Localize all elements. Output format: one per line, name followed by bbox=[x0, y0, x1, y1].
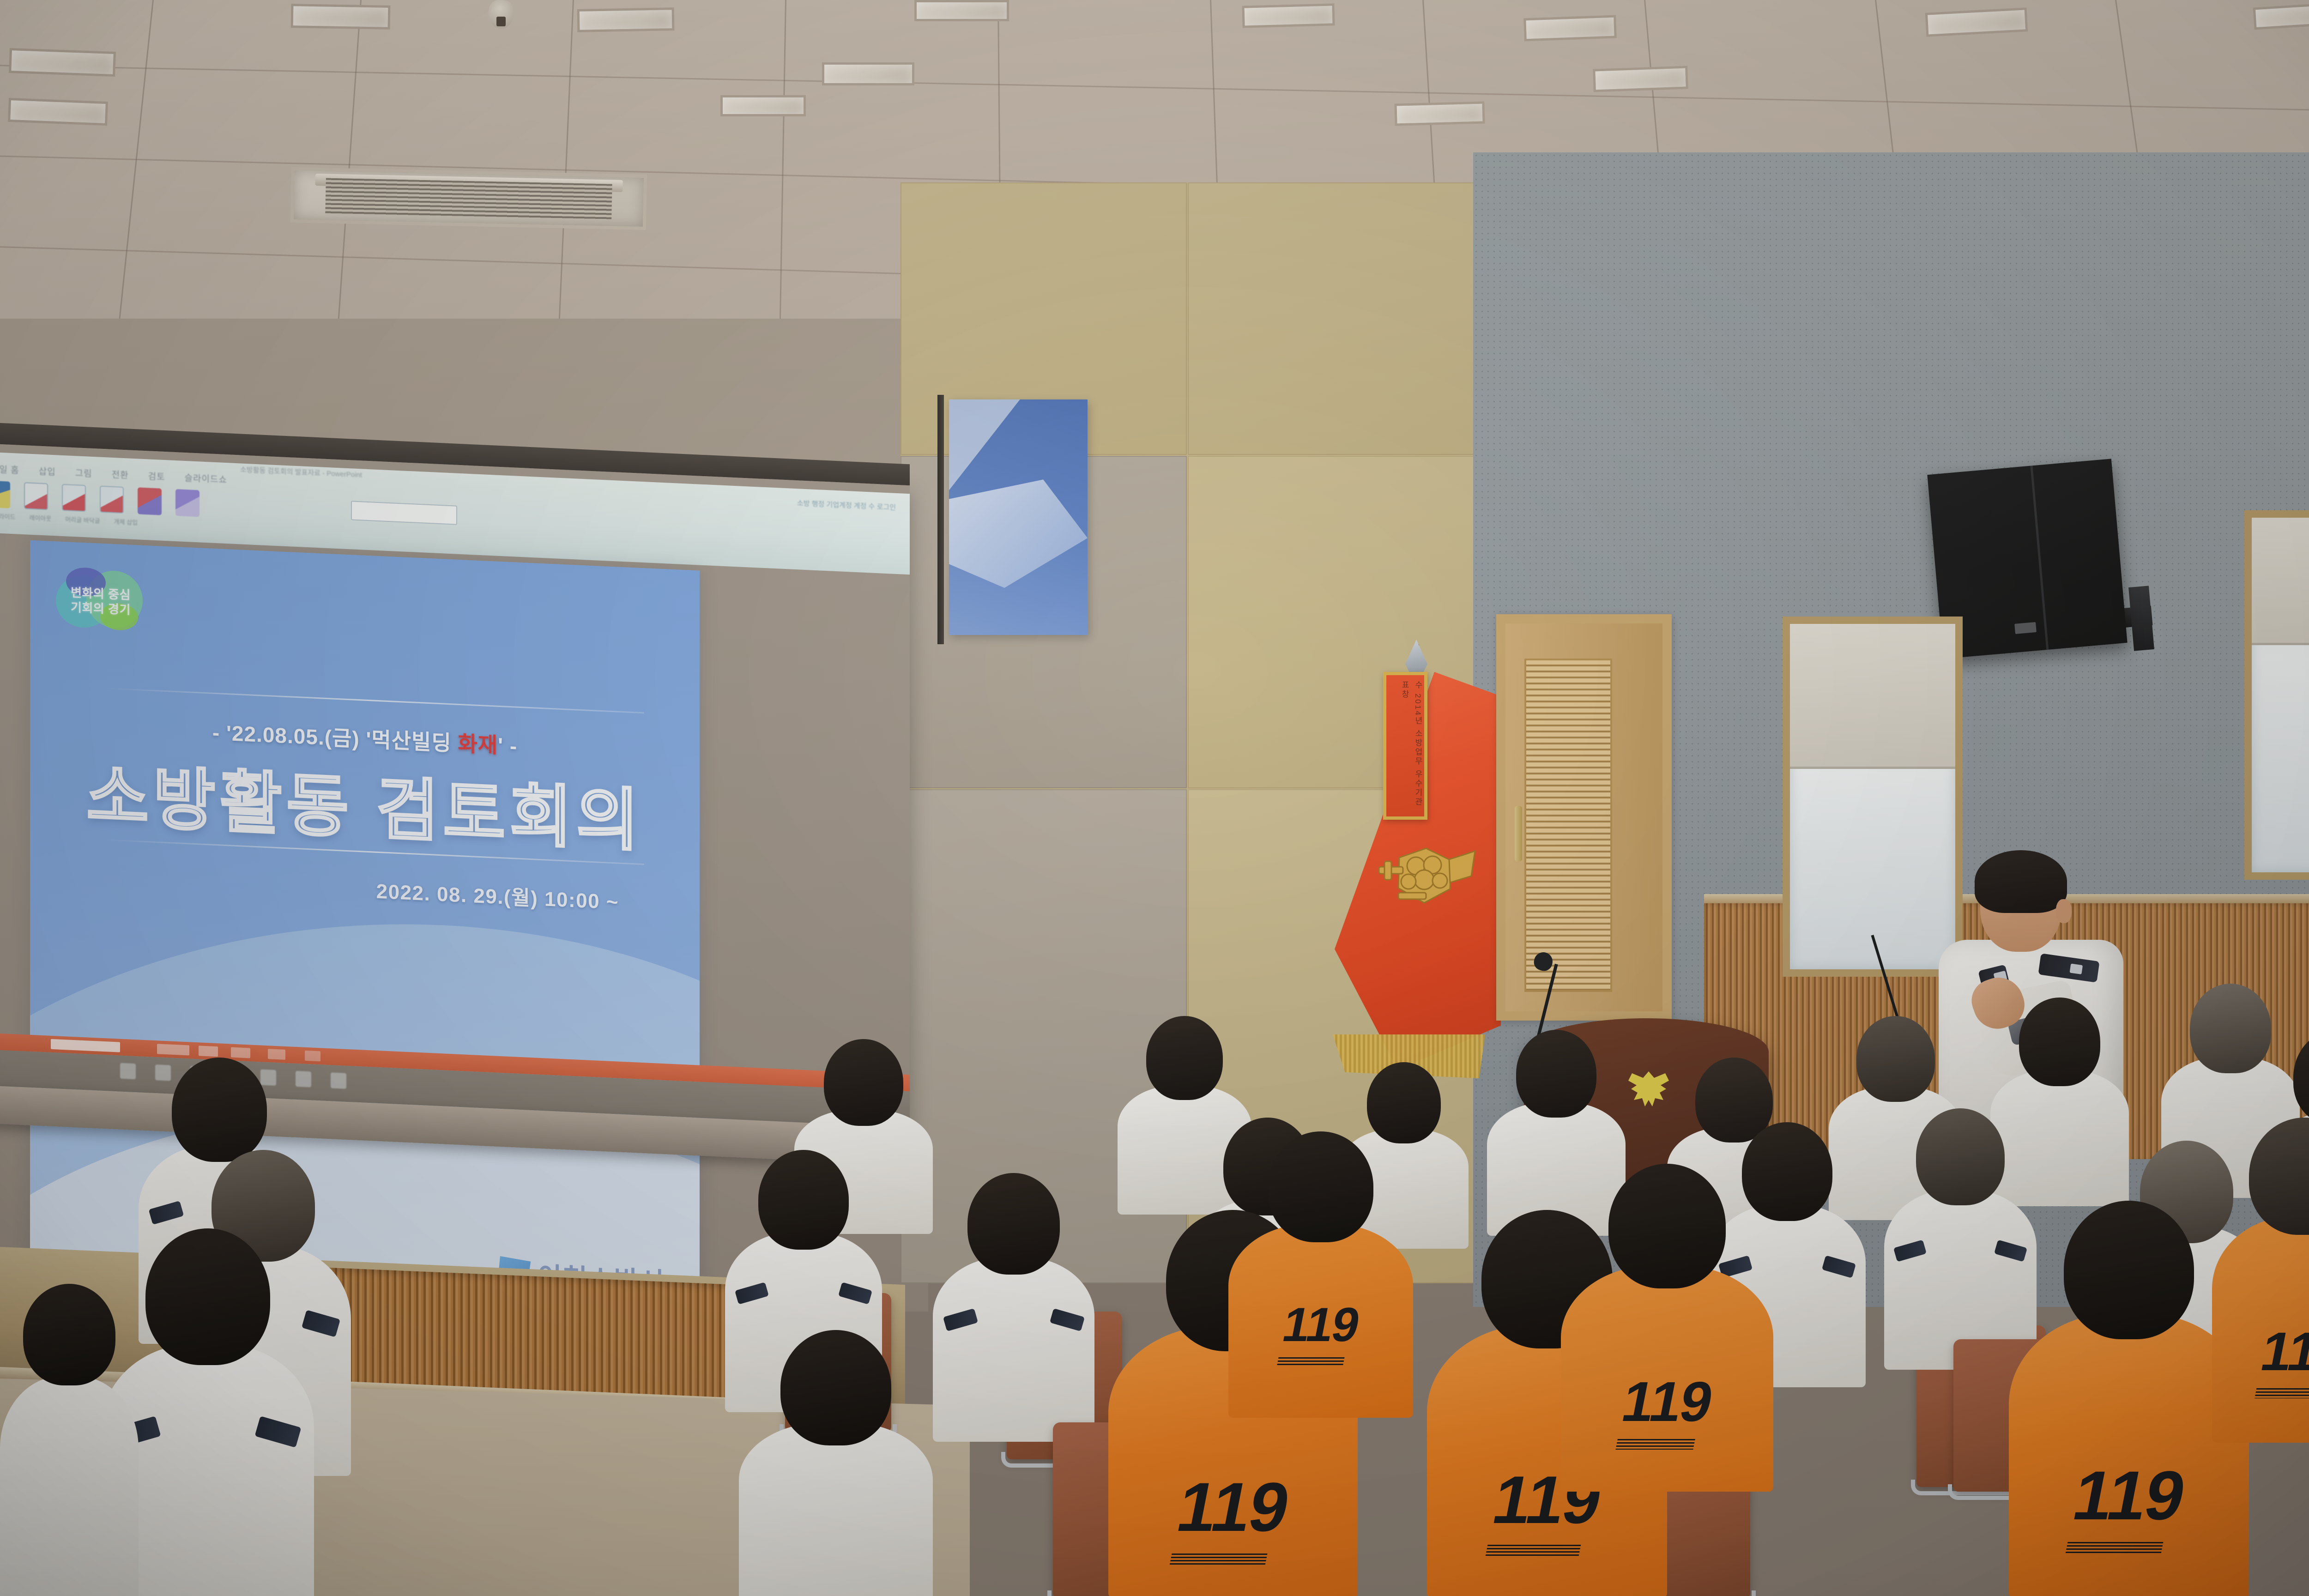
ribbon-icon-group[interactable] bbox=[0, 480, 199, 517]
rank-epaulette-left bbox=[943, 1308, 978, 1331]
head bbox=[2019, 997, 2100, 1086]
door-handle-icon[interactable] bbox=[1515, 806, 1522, 861]
banner-rod bbox=[937, 395, 944, 644]
head bbox=[1516, 1030, 1596, 1118]
insert-picture-icon[interactable] bbox=[62, 484, 86, 512]
menu-slideshow[interactable]: 슬라이드쇼 bbox=[185, 471, 227, 485]
stage-wood-slats bbox=[296, 1266, 785, 1402]
head bbox=[824, 1039, 903, 1126]
head bbox=[2293, 1030, 2309, 1125]
audience-member bbox=[739, 1330, 933, 1596]
uniform-shirt bbox=[933, 1257, 1094, 1442]
audience-member-119: 119 bbox=[2212, 1118, 2309, 1441]
rank-epaulette-right bbox=[1822, 1255, 1856, 1278]
door-louver-slats bbox=[1524, 659, 1612, 992]
presenter-hair bbox=[1975, 850, 2067, 913]
audience-member-119: 119 bbox=[1228, 1131, 1413, 1418]
icon-label: 머리글 바닥글 bbox=[65, 514, 100, 525]
ceiling-light-panel bbox=[291, 4, 391, 30]
rank-epaulette-right bbox=[254, 1416, 301, 1447]
auditorium-photo: 소방활동 검토회의 발표자료 - PowerPoint 소방 행정 기업계정 계… bbox=[0, 0, 2309, 1596]
account-label: 소방 행정 기업계정 계정 수 로그인 bbox=[797, 498, 896, 512]
window-blind[interactable] bbox=[1790, 624, 1955, 769]
screen-surface: 소방활동 검토회의 발표자료 - PowerPoint 소방 행정 기업계정 계… bbox=[0, 443, 910, 1127]
head bbox=[23, 1284, 115, 1385]
start-icon[interactable] bbox=[120, 1063, 136, 1080]
slide-rule-top bbox=[99, 688, 644, 714]
menu-file-home[interactable]: 파일 홈 bbox=[0, 462, 19, 476]
menu-insert[interactable]: 삽입 bbox=[39, 465, 56, 478]
window-blind[interactable] bbox=[2252, 518, 2309, 645]
text-box-icon[interactable] bbox=[0, 480, 10, 508]
align-icon[interactable] bbox=[138, 487, 162, 515]
icon-label: 새 슬라이드 bbox=[0, 511, 15, 521]
ceiling-light-panel bbox=[822, 62, 914, 85]
ceiling-light-panel bbox=[9, 48, 116, 77]
head bbox=[2190, 984, 2271, 1073]
ceiling-light-panel bbox=[577, 7, 675, 32]
tray-icon[interactable] bbox=[331, 1072, 346, 1089]
rank-epaulette-right bbox=[1049, 1308, 1084, 1331]
ceiling-light-panel bbox=[1593, 66, 1688, 92]
streamer-text: 수 2014년 소방업무 우수기관 표창 bbox=[1386, 675, 1424, 816]
subtitle-highlight: 화재 bbox=[458, 731, 498, 757]
jumpsuit-119-print: 119 bbox=[1617, 1369, 1717, 1434]
uniform-shirt bbox=[0, 1376, 139, 1596]
menu-picture[interactable]: 그림 bbox=[75, 466, 92, 479]
ribbon-menubar[interactable]: 파일 홈 삽입 그림 전환 검토 슬라이드쇼 bbox=[0, 462, 227, 485]
jumpsuit-119-print: 119 bbox=[1278, 1298, 1364, 1353]
audience-member-119: 119 bbox=[1561, 1164, 1773, 1487]
head bbox=[758, 1150, 849, 1250]
ceiling-light-panel bbox=[1394, 101, 1485, 126]
ceiling-light-panel bbox=[1523, 15, 1617, 42]
projection-screen: 소방활동 검토회의 발표자료 - PowerPoint 소방 행정 기업계정 계… bbox=[0, 443, 910, 1127]
ceiling-ac-unit bbox=[290, 167, 647, 230]
new-slide-icon[interactable] bbox=[24, 482, 48, 510]
menu-transition[interactable]: 전환 bbox=[112, 468, 129, 481]
jumpsuit-119: 119 bbox=[1561, 1265, 1773, 1492]
uniform-shirt bbox=[739, 1422, 933, 1596]
ceiling-light-panel bbox=[1242, 3, 1335, 28]
ribbon-search-field[interactable] bbox=[351, 501, 457, 525]
ceiling-light-panel bbox=[914, 0, 1009, 21]
fire-sprinkler-icon bbox=[489, 0, 514, 29]
presenter-ear bbox=[2056, 899, 2072, 923]
audience-member bbox=[933, 1173, 1094, 1441]
icon-label: 개체 삽입 bbox=[114, 517, 138, 526]
speaker-brand-badge bbox=[2014, 622, 2037, 634]
app-titlebar: 소방활동 검토회의 발표자료 - PowerPoint bbox=[240, 464, 362, 479]
jumpsuit-119-print: 119 bbox=[2067, 1456, 2191, 1536]
gyeonggi-emblem: 변화의 중심 기회의 경기 bbox=[56, 564, 144, 635]
ribbon-icon-labels: 새 슬라이드 레이아웃 머리글 바닥글 개체 삽입 bbox=[0, 511, 138, 526]
subtitle-post: ' - bbox=[498, 733, 517, 758]
ceiling-light-panel bbox=[8, 98, 108, 126]
head bbox=[2064, 1201, 2194, 1339]
head bbox=[1146, 1016, 1223, 1100]
jumpsuit-119: 119 bbox=[1228, 1224, 1413, 1418]
louvered-door[interactable] bbox=[1496, 614, 1672, 1021]
head bbox=[780, 1330, 891, 1445]
fire-service-emblem-icon bbox=[1372, 838, 1478, 919]
jumpsuit-119-print: 119 bbox=[2256, 1320, 2309, 1383]
jumpsuit-119-print: 119 bbox=[1171, 1467, 1295, 1547]
head bbox=[967, 1173, 1060, 1275]
jumpsuit-119: 119 bbox=[2212, 1216, 2309, 1443]
insert-shape-icon[interactable] bbox=[100, 486, 124, 514]
flag-streamer: 수 2014년 소방업무 우수기관 표창 bbox=[1383, 672, 1427, 820]
head bbox=[145, 1228, 270, 1365]
window-right bbox=[2244, 510, 2309, 880]
rank-epaulette-left bbox=[1893, 1240, 1927, 1262]
rank-epaulette-right bbox=[838, 1282, 872, 1305]
head bbox=[1916, 1108, 2005, 1205]
audience-member bbox=[0, 1284, 139, 1596]
head bbox=[1856, 1016, 1935, 1102]
rank-epaulette-left bbox=[735, 1282, 769, 1305]
head bbox=[2249, 1118, 2309, 1235]
head bbox=[1608, 1164, 1726, 1288]
slide-date: 2022. 08. 29.(월) 10:00 ~ bbox=[376, 875, 619, 915]
head bbox=[172, 1058, 267, 1162]
arrange-icon[interactable] bbox=[175, 489, 199, 517]
ceiling-light-panel bbox=[720, 95, 806, 116]
icon-label: 레이아웃 bbox=[29, 513, 51, 523]
decorative-banner bbox=[949, 399, 1088, 635]
menu-review[interactable]: 검토 bbox=[148, 469, 165, 483]
head bbox=[1268, 1131, 1373, 1242]
